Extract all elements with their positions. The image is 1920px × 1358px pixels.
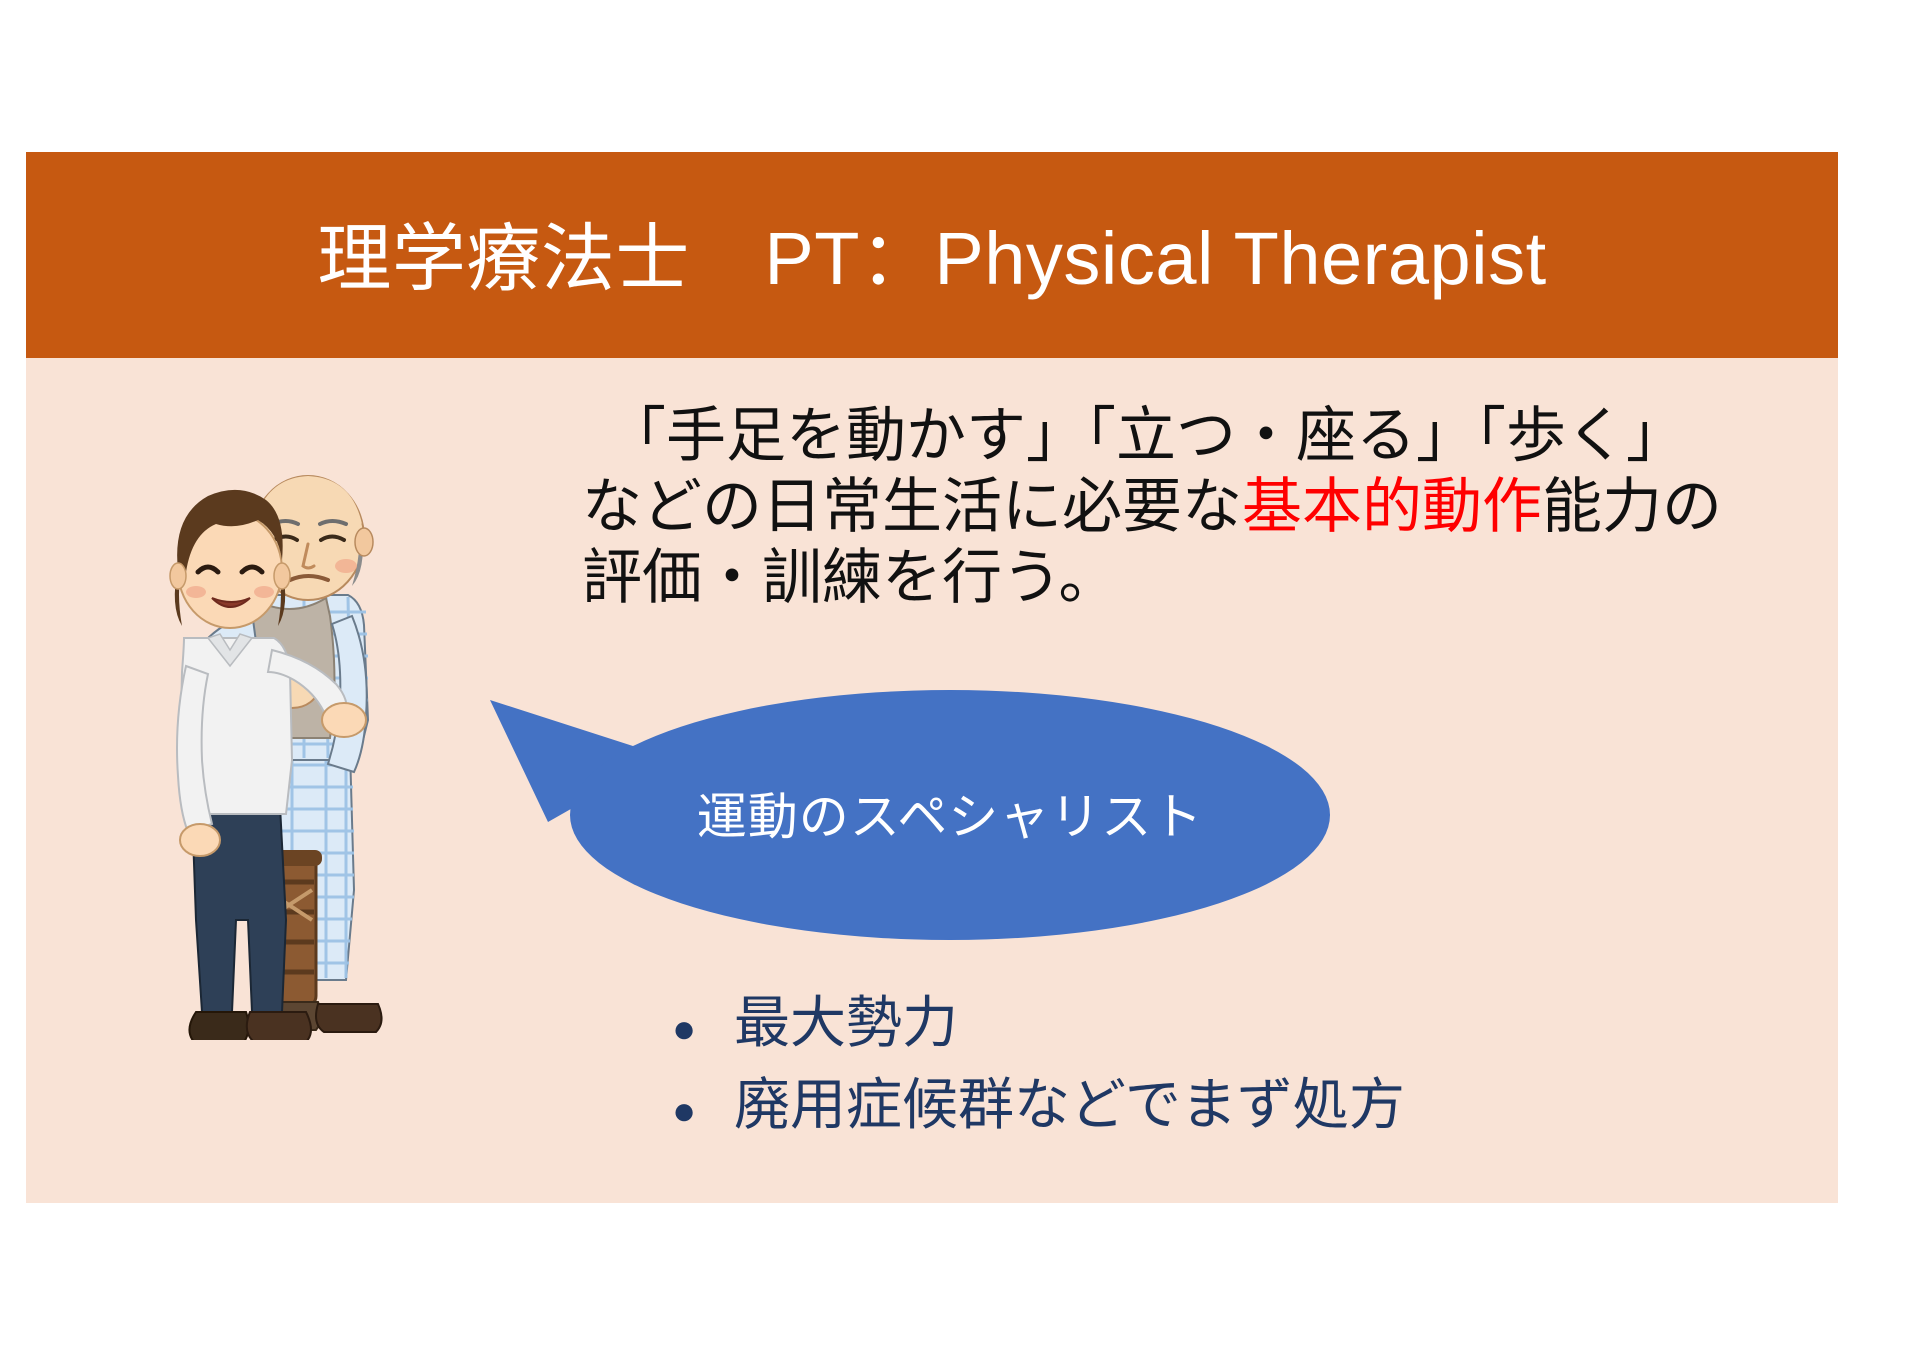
title-band: 理学療法士 PT：Physical Therapist <box>26 152 1838 358</box>
paragraph-line-3: 評価・訓練を行う。 <box>582 542 1822 613</box>
paragraph-line-1: 「手足を動かす」「立つ・座る」「歩く」 <box>582 400 1822 471</box>
list-item: ● 廃用症候群などでまず処方 <box>672 1067 1405 1149</box>
speech-bubble: 運動のスペシャリスト <box>490 690 1330 940</box>
caregiver-illustration <box>140 420 430 1040</box>
page-title: 理学療法士 PT：Physical Therapist <box>26 152 1838 358</box>
bullet-dot-icon: ● <box>672 991 734 1067</box>
bullet-list: ● 最大勢力 ● 廃用症候群などでまず処方 <box>672 985 1405 1149</box>
paragraph-line-2-after: 能力の <box>1542 473 1722 540</box>
bullet-dot-icon: ● <box>672 1073 734 1149</box>
list-item-label: 最大勢力 <box>734 985 958 1061</box>
paragraph-highlight: 基本的動作 <box>1242 473 1542 540</box>
slide-canvas: 理学療法士 PT：Physical Therapist <box>0 0 1920 1358</box>
speech-bubble-label: 運動のスペシャリスト <box>570 690 1330 940</box>
paragraph-line-2-before: などの日常生活に必要な <box>582 473 1242 540</box>
paragraph-line-2: などの日常生活に必要な基本的動作能力の <box>582 471 1822 542</box>
description-paragraph: 「手足を動かす」「立つ・座る」「歩く」 などの日常生活に必要な基本的動作能力の … <box>582 400 1822 613</box>
list-item-label: 廃用症候群などでまず処方 <box>734 1067 1405 1143</box>
list-item: ● 最大勢力 <box>672 985 1405 1067</box>
